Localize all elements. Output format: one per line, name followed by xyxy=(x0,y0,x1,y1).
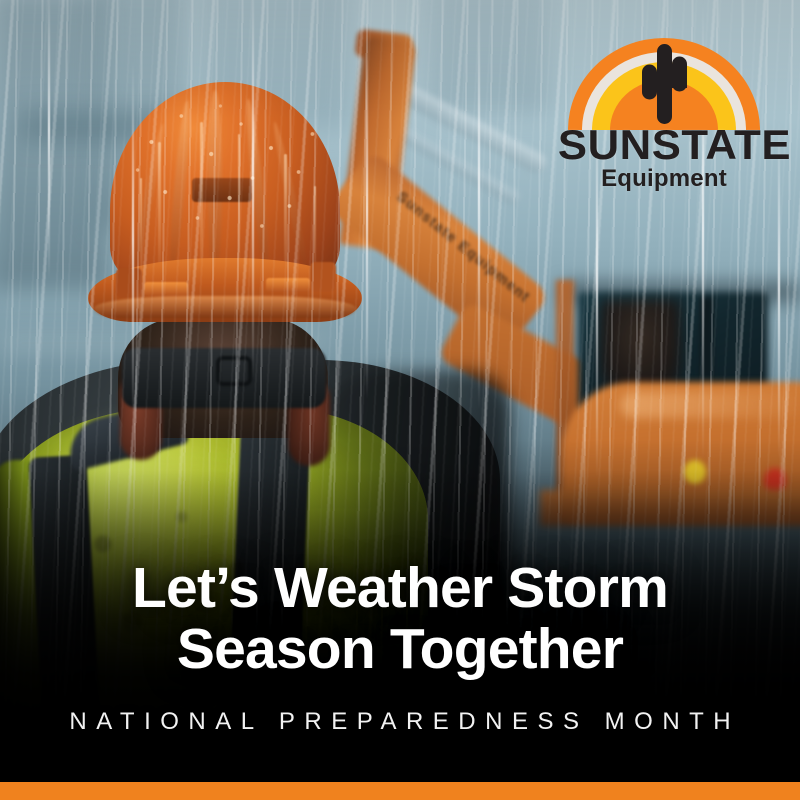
hard-hat-clip xyxy=(310,262,336,292)
headline-line-1: Let’s Weather Storm xyxy=(0,558,800,619)
bottom-accent-bar xyxy=(0,782,800,800)
hard-hat-clip xyxy=(116,268,142,298)
hard-hat-adjuster xyxy=(216,356,252,386)
poster-canvas: Sunstate Equipment xyxy=(0,0,800,800)
poster-copy: Let’s Weather Storm Season Together NATI… xyxy=(0,558,800,736)
excavator-cab-interior xyxy=(600,300,680,392)
sun-arc-icon xyxy=(568,38,760,130)
logo-brand-name: SUNSTATE xyxy=(558,124,770,166)
hard-hat-brim-edge xyxy=(94,296,356,318)
logo-wordmark: SUNSTATE Equipment xyxy=(562,124,766,174)
hard-hat-tab xyxy=(266,278,310,292)
excavator-cab-pillar xyxy=(700,298,713,378)
subheadline: NATIONAL PREPAREDNESS MONTH xyxy=(0,708,800,736)
sunstate-equipment-logo[interactable]: SUNSTATE Equipment xyxy=(562,38,766,190)
headline-line-2: Season Together xyxy=(0,619,800,680)
excavator-body-highlight xyxy=(620,392,800,418)
hard-hat-tab xyxy=(144,282,188,296)
logo-brand-sub: Equipment xyxy=(562,167,766,191)
